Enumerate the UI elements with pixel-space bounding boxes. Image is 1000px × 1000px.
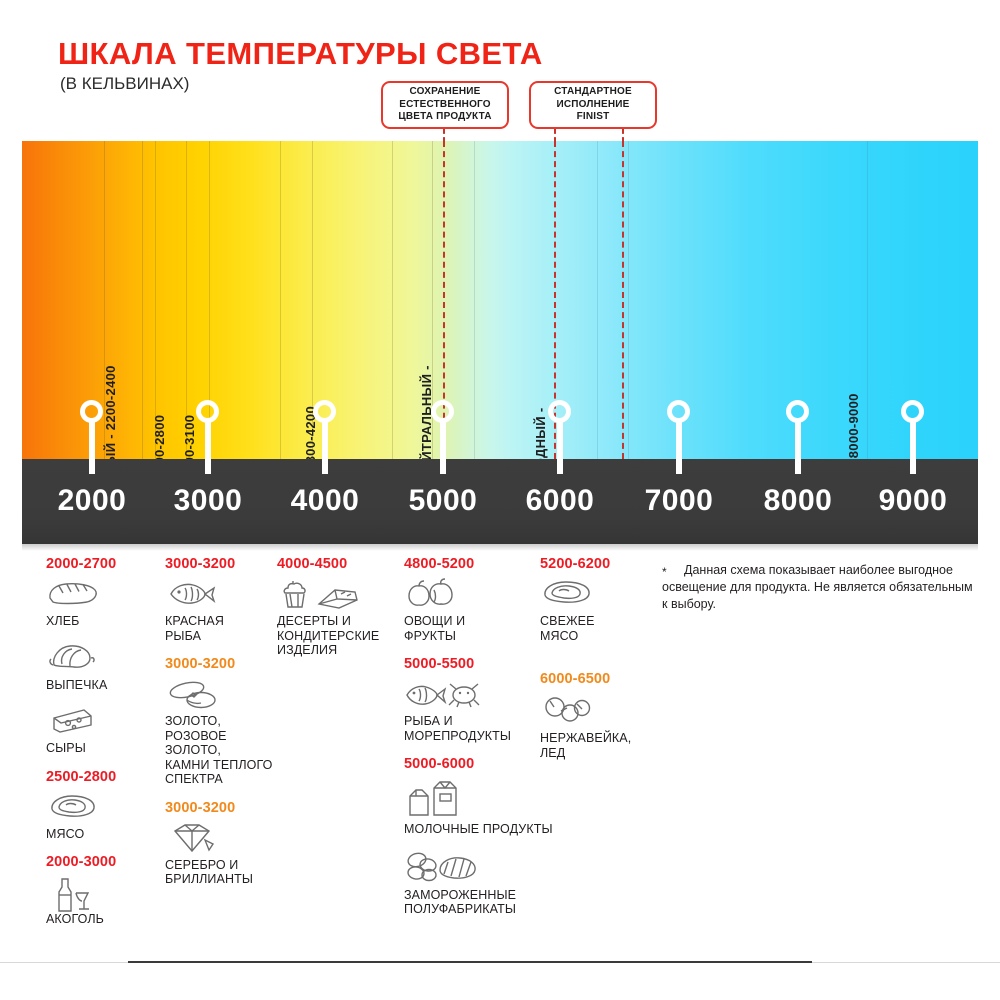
category-columns: 2000-2700 ХЛЕБ: [0, 556, 1000, 956]
category-group: 6000-6500 НЕРЖАВЕЙКА, ЛЕД: [540, 671, 650, 760]
fish-icon: [165, 578, 283, 612]
callout-finist-line1: СТАНДАРТНОЕ: [554, 86, 632, 97]
band-separator: [474, 141, 475, 459]
scale-tick-9000: 9000: [853, 484, 973, 518]
vlabel-cold: ХОЛОДНЫЙ - 8000-9000: [846, 393, 861, 459]
category-caption: МЯСО: [46, 827, 156, 842]
page-title: ШКАЛА ТЕМПЕРАТУРЫ СВЕТА: [58, 36, 543, 72]
frozen-icon: [404, 850, 544, 886]
band-separator: [628, 141, 629, 459]
band-separator: [142, 141, 143, 459]
vlabel-warm-3000-line1: ТЕПЛЫЙ - 2900-3100: [182, 415, 197, 459]
alcohol-icon: [46, 876, 156, 910]
callout-finist-line2: ИСПОЛНЕНИЕ: [556, 99, 629, 110]
diamond-icon: [165, 822, 283, 856]
callout-natural-line1: СОХРАНЕНИЕ: [409, 86, 480, 97]
range-label: 5000-6000: [404, 756, 544, 772]
band-separator: [186, 141, 187, 459]
category-caption: МОЛОЧНЫЕ ПРОДУКТЫ: [404, 822, 544, 837]
footnote: * Данная схема показывает наиболее выгод…: [662, 562, 978, 613]
category-item: ЗАМОРОЖЕННЫЕ ПОЛУФАБРИКАТЫ: [404, 850, 544, 917]
category-caption: ВЫПЕЧКА: [46, 678, 156, 693]
vlabel-super-warm-line1: СУПЕР ТЕПЛЫЙ - 2200-2400: [103, 365, 118, 459]
category-item: МЯСО: [46, 791, 156, 842]
category-caption: ОВОЩИ И ФРУКТЫ: [404, 614, 544, 643]
scale-tick-8000: 8000: [738, 484, 858, 518]
footnote-marker: *: [662, 564, 667, 581]
vlabel-white-cold-line1: БЕЛЫЙ ХОЛОДНЫЙ -: [533, 408, 548, 459]
callout-stub-finist-right: [622, 129, 624, 142]
callout-natural-color: СОХРАНЕНИЕ ЕСТЕСТВЕННОГО ЦВЕТА ПРОДУКТА: [381, 81, 509, 129]
category-caption: СЫРЫ: [46, 741, 156, 756]
category-item: СЕРЕБРО И БРИЛЛИАНТЫ: [165, 822, 283, 887]
category-item: АКОГОЛЬ: [46, 876, 156, 927]
scale-tick-7000: 7000: [619, 484, 739, 518]
scale-tick-2000: 2000: [32, 484, 152, 518]
spectrum-gradient: [22, 141, 978, 459]
category-column-1: 2000-2700 ХЛЕБ: [46, 556, 156, 940]
category-column-5: 5200-6200 СВЕЖЕЕ МЯСО 6000-6500: [540, 556, 650, 773]
range-label: 3000-3200: [165, 656, 283, 672]
range-label: 4000-4500: [277, 556, 395, 572]
category-group: 5000-6000 МОЛОЧНЫЕ ПРОДУКТЫ: [404, 756, 544, 917]
category-group: 3000-3200 ЗОЛОТО, РОЗОВОЕ ЗОЛОТО, КАМНИ …: [165, 656, 283, 787]
band-separator: [392, 141, 393, 459]
category-item: ЗОЛОТО, РОЗОВОЕ ЗОЛОТО, КАМНИ ТЕПЛОГО СП…: [165, 678, 283, 787]
range-label: 3000-3200: [165, 800, 283, 816]
category-column-2: 3000-3200 КРАСНАЯ РЫБА 3000-3200: [165, 556, 283, 900]
category-item: ВЫПЕЧКА: [46, 642, 156, 693]
category-group: 5200-6200 СВЕЖЕЕ МЯСО: [540, 556, 650, 643]
range-label: 3000-3200: [165, 556, 283, 572]
category-caption: АКОГОЛЬ: [46, 912, 156, 927]
category-column-4: 4800-5200 ОВОЩИ И ФРУКТЫ 5: [404, 556, 544, 930]
band-separator: [280, 141, 281, 459]
croissant-icon: [46, 642, 156, 676]
category-item: КРАСНАЯ РЫБА: [165, 578, 283, 643]
callout-natural-line3: ЦВЕТА ПРОДУКТА: [398, 111, 491, 122]
bottom-divider-dark: [128, 961, 812, 963]
range-label: 5000-5500: [404, 656, 544, 672]
category-group: 2000-2700 ХЛЕБ: [46, 556, 156, 756]
range-label: 6000-6500: [540, 671, 650, 687]
callout-finist-standard: СТАНДАРТНОЕ ИСПОЛНЕНИЕ FINIST: [529, 81, 657, 129]
category-caption: СЕРЕБРО И БРИЛЛИАНТЫ: [165, 858, 283, 887]
category-caption: ЗОЛОТО, РОЗОВОЕ ЗОЛОТО, КАМНИ ТЕПЛОГО СП…: [165, 714, 283, 787]
category-column-3: 4000-4500 ДЕСЕРТЫ И КОНДИТЕРСКИЕ ИЗДЕЛИЯ: [277, 556, 395, 671]
scale-tick-5000: 5000: [383, 484, 503, 518]
range-label: 2500-2800: [46, 769, 156, 785]
category-item: ХЛЕБ: [46, 578, 156, 629]
category-caption: НЕРЖАВЕЙКА, ЛЕД: [540, 731, 650, 760]
category-item: ДЕСЕРТЫ И КОНДИТЕРСКИЕ ИЗДЕЛИЯ: [277, 578, 395, 658]
category-group: 3000-3200 КРАСНАЯ РЫБА: [165, 556, 283, 643]
page-subtitle: (В КЕЛЬВИНАХ): [60, 74, 189, 94]
footnote-text: Данная схема показывает наиболее выгодно…: [662, 563, 973, 611]
fresh-meat-icon: [540, 578, 650, 612]
range-label: 2000-2700: [46, 556, 156, 572]
category-caption: РЫБА И МОРЕПРОДУКТЫ: [404, 714, 544, 743]
ice-icon: [540, 695, 650, 729]
category-caption: КРАСНАЯ РЫБА: [165, 614, 283, 643]
category-group: 4000-4500 ДЕСЕРТЫ И КОНДИТЕРСКИЕ ИЗДЕЛИЯ: [277, 556, 395, 658]
fruit-icon: [404, 578, 544, 612]
range-label: 4800-5200: [404, 556, 544, 572]
callout-natural-line2: ЕСТЕСТВЕННОГО: [399, 99, 491, 110]
category-group: 4800-5200 ОВОЩИ И ФРУКТЫ: [404, 556, 544, 643]
category-group: 5000-5500 РЫБ: [404, 656, 544, 743]
category-item: МОЛОЧНЫЕ ПРОДУКТЫ: [404, 780, 544, 837]
category-item: СВЕЖЕЕ МЯСО: [540, 578, 650, 643]
band-separator: [867, 141, 868, 459]
milk-icon: [404, 780, 544, 820]
vlabel-warm-2700-line1: ТЕПЛЫЙ - 2600-2800: [152, 415, 167, 459]
callout-finist-line3: FINIST: [577, 111, 610, 122]
category-item: НЕРЖАВЕЙКА, ЛЕД: [540, 695, 650, 760]
range-label: 2000-3000: [46, 854, 156, 870]
category-group: 3000-3200 СЕРЕБРО И БРИЛЛИАНТЫ: [165, 800, 283, 887]
cheese-icon: [46, 705, 156, 739]
category-item: РЫБА И МОРЕПРОДУКТЫ: [404, 678, 544, 743]
category-group: 2500-2800 МЯСО: [46, 769, 156, 842]
red-dash-6500: [622, 141, 624, 459]
meat-icon: [46, 791, 156, 825]
category-item: ОВОЩИ И ФРУКТЫ: [404, 578, 544, 643]
callout-stub-natural: [443, 129, 445, 142]
category-caption: СВЕЖЕЕ МЯСО: [540, 614, 650, 643]
category-caption: ЗАМОРОЖЕННЫЕ ПОЛУФАБРИКАТЫ: [404, 888, 544, 917]
category-group: 2000-3000 АКОГОЛЬ: [46, 854, 156, 927]
spectrum-gradient-bar: СУПЕР ТЕПЛЫЙ - 2200-2400 (тип К 2400) ТЕ…: [22, 141, 978, 459]
scale-tick-4000: 4000: [265, 484, 385, 518]
seafood-icon: [404, 678, 544, 712]
scale-tick-6000: 6000: [500, 484, 620, 518]
dessert-icon: [277, 578, 395, 612]
rings-icon: [165, 678, 283, 712]
bread-icon: [46, 578, 156, 612]
range-label: 5200-6200: [540, 556, 650, 572]
scale-tick-3000: 3000: [148, 484, 268, 518]
band-separator: [155, 141, 156, 459]
category-caption: ДЕСЕРТЫ И КОНДИТЕРСКИЕ ИЗДЕЛИЯ: [277, 614, 395, 658]
category-caption: ХЛЕБ: [46, 614, 156, 629]
callout-stub-finist-left: [554, 129, 556, 142]
category-item: СЫРЫ: [46, 705, 156, 756]
band-separator: [597, 141, 598, 459]
